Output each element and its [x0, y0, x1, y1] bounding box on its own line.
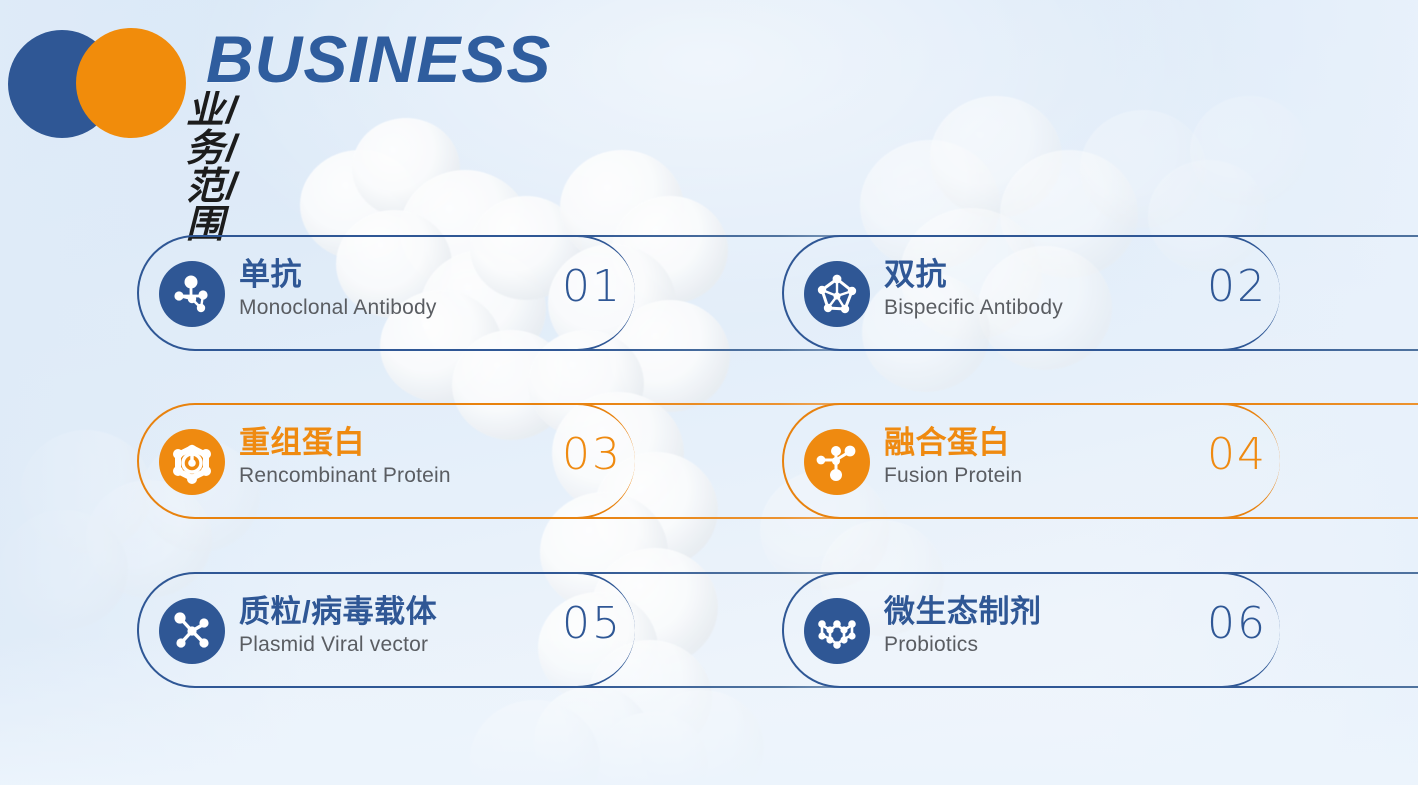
card-label-en: Probiotics [884, 632, 1214, 657]
card-label-en: Rencombinant Protein [239, 463, 569, 488]
card-label-en: Plasmid Viral vector [239, 632, 569, 657]
card-labels: 重组蛋白 Rencombinant Protein [239, 425, 569, 488]
card-02[interactable]: 双抗 Bispecific Antibody 02 [782, 235, 1282, 353]
card-label-cn: 融合蛋白 [884, 425, 1214, 462]
card-tail-bottom [1202, 517, 1418, 519]
gear-molecule-icon [159, 429, 225, 495]
card-number: 06 [1207, 602, 1267, 646]
business-scope-list: 单抗 Monoclonal Antibody 01 [0, 0, 1418, 785]
card-label-en: Bispecific Antibody [884, 295, 1214, 320]
card-tail-bottom [1202, 686, 1418, 688]
card-labels: 微生态制剂 Probiotics [884, 594, 1214, 657]
card-number: 01 [562, 265, 622, 309]
card-label-cn: 重组蛋白 [239, 425, 569, 462]
card-number: 03 [562, 433, 622, 477]
molecule-cross-icon [159, 598, 225, 664]
card-01[interactable]: 单抗 Monoclonal Antibody 01 [137, 235, 637, 353]
card-05[interactable]: 质粒/病毒载体 Plasmid Viral vector 05 [137, 572, 637, 690]
card-tail-top [1202, 403, 1418, 405]
card-04[interactable]: 融合蛋白 Fusion Protein 04 [782, 403, 1282, 521]
card-label-en: Monoclonal Antibody [239, 295, 569, 320]
card-label-cn: 单抗 [239, 257, 569, 294]
card-labels: 质粒/病毒载体 Plasmid Viral vector [239, 594, 569, 657]
card-number: 02 [1207, 265, 1267, 309]
card-06[interactable]: 微生态制剂 Probiotics 06 [782, 572, 1282, 690]
molecule-tetra-icon [159, 261, 225, 327]
card-tail-top [1202, 572, 1418, 574]
card-labels: 单抗 Monoclonal Antibody [239, 257, 569, 320]
molecule-chain-icon [804, 598, 870, 664]
card-03[interactable]: 重组蛋白 Rencombinant Protein 03 [137, 403, 637, 521]
card-labels: 融合蛋白 Fusion Protein [884, 425, 1214, 488]
card-tail-top [1202, 235, 1418, 237]
molecule-fusion-icon [804, 429, 870, 495]
card-label-cn: 质粒/病毒载体 [239, 594, 569, 631]
card-labels: 双抗 Bispecific Antibody [884, 257, 1214, 320]
card-label-cn: 双抗 [884, 257, 1214, 294]
slide-canvas: BUSINESS 业/务/范/围 [0, 0, 1418, 785]
card-number: 04 [1207, 433, 1267, 477]
card-number: 05 [562, 602, 622, 646]
card-label-en: Fusion Protein [884, 463, 1214, 488]
molecule-star-icon [804, 261, 870, 327]
card-tail-bottom [1202, 349, 1418, 351]
card-label-cn: 微生态制剂 [884, 594, 1214, 631]
